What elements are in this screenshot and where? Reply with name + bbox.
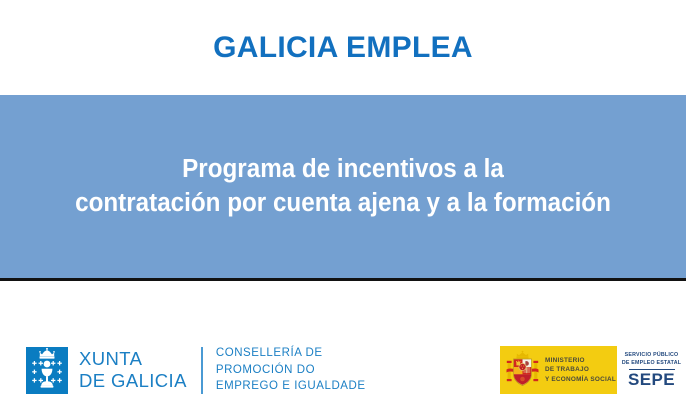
- page-title: GALICIA EMPLEA: [213, 33, 473, 63]
- conselleria-wordmark: CONSELLERÍA DE PROMOCIÓN DO EMPREGO E IG…: [216, 345, 366, 395]
- sepe-acronym: SEPE: [628, 371, 675, 388]
- xunta-wordmark-line-1: XUNTA: [79, 348, 187, 370]
- sepe-caption-line-1: SERVICIO PÚBLICO: [622, 352, 681, 360]
- sepe-logo: SERVICIO PÚBLICO DE EMPLEO ESTATAL SEPE: [617, 346, 686, 394]
- ministerio-line-3: Y ECONOMÍA SOCIAL: [545, 375, 616, 384]
- sepe-caption: SERVICIO PÚBLICO DE EMPLEO ESTATAL: [622, 352, 681, 368]
- spain-coat-of-arms-icon: [505, 350, 540, 390]
- footer-zone: XUNTA DE GALICIA CONSELLERÍA DE PROMOCIÓ…: [0, 281, 686, 410]
- conselleria-line-1: CONSELLERÍA DE: [216, 345, 366, 362]
- xunta-emblem-icon: [26, 347, 68, 394]
- header-zone: GALICIA EMPLEA: [0, 0, 686, 95]
- xunta-wordmark-line-2: DE GALICIA: [79, 370, 187, 392]
- ministerio-de-trabajo-logo: MINISTERIO DE TRABAJO Y ECONOMÍA SOCIAL: [500, 346, 617, 394]
- conselleria-line-3: EMPREGO E IGUALDADE: [216, 378, 366, 395]
- ministerio-line-1: MINISTERIO: [545, 356, 616, 365]
- conselleria-line-2: PROMOCIÓN DO: [216, 362, 366, 379]
- xunta-de-galicia-lockup: XUNTA DE GALICIA CONSELLERÍA DE PROMOCIÓ…: [26, 345, 366, 395]
- ministerio-line-2: DE TRABAJO: [545, 365, 616, 374]
- ministerio-wordmark: MINISTERIO DE TRABAJO Y ECONOMÍA SOCIAL: [545, 356, 616, 384]
- program-banner: Programa de incentivos a la contratación…: [0, 95, 686, 278]
- program-banner-line-2: contratación por cuenta ajena y a la for…: [25, 187, 662, 220]
- program-banner-line-1: Programa de incentivos a la: [25, 153, 662, 186]
- government-logos-lockup: MINISTERIO DE TRABAJO Y ECONOMÍA SOCIAL …: [500, 346, 686, 394]
- program-banner-text: Programa de incentivos a la contratación…: [17, 153, 669, 219]
- lockup-divider: [201, 347, 203, 394]
- sepe-caption-line-2: DE EMPLEO ESTATAL: [622, 360, 681, 368]
- xunta-wordmark: XUNTA DE GALICIA: [79, 348, 187, 392]
